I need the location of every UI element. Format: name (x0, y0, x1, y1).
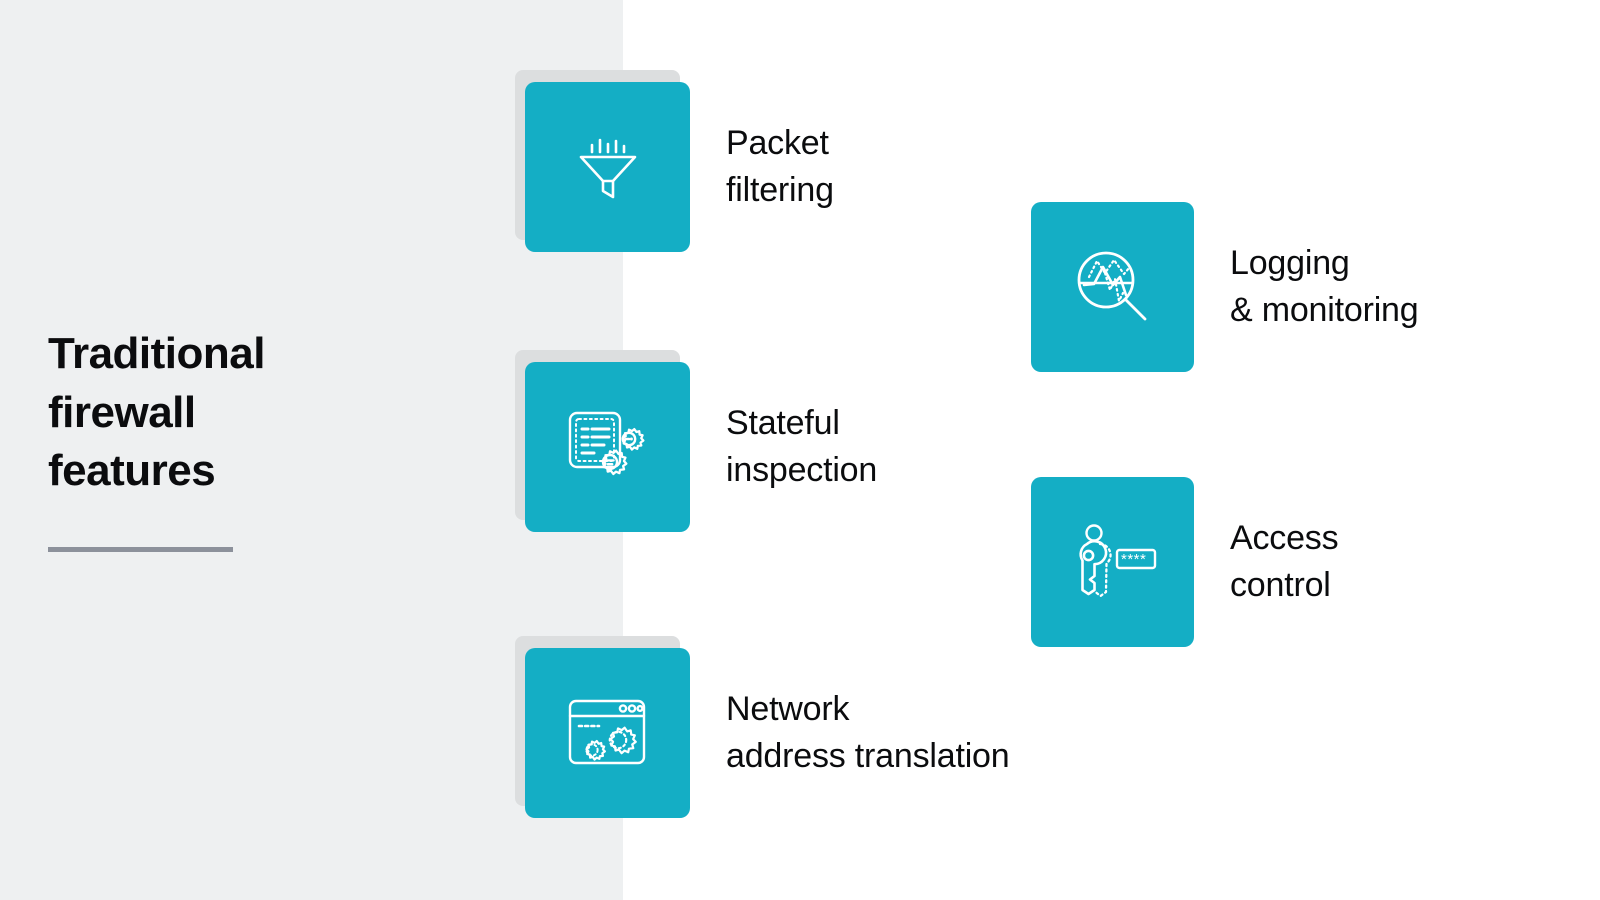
feature-label-logging-monitoring: Logging & monitoring (1230, 240, 1418, 333)
page-title: Traditional firewall features (48, 325, 478, 501)
feature-label-packet-filtering: Packet filtering (726, 120, 834, 213)
tile-wrap-packet-filtering (525, 82, 690, 252)
feature-network-address-translation[interactable]: Network address translation (525, 648, 1009, 818)
tile-logging-monitoring[interactable] (1031, 202, 1194, 372)
document-gears-icon (566, 407, 650, 487)
feature-label-network-address-translation: Network address translation (726, 686, 1009, 779)
browser-window-gears-icon (566, 695, 650, 771)
tile-packet-filtering[interactable] (525, 82, 690, 252)
tile-wrap-access-control: **** (1031, 477, 1194, 647)
svg-text:****: **** (1121, 551, 1146, 568)
tile-wrap-stateful-inspection (525, 362, 690, 532)
tile-stateful-inspection[interactable] (525, 362, 690, 532)
tile-wrap-logging-monitoring (1031, 202, 1194, 372)
tile-network-address-translation[interactable] (525, 648, 690, 818)
feature-label-stateful-inspection: Stateful inspection (726, 400, 877, 493)
title-divider-rule (48, 547, 233, 552)
keys-password-icon: **** (1069, 522, 1157, 602)
feature-packet-filtering[interactable]: Packet filtering (525, 82, 834, 252)
feature-access-control[interactable]: **** Access control (1031, 477, 1338, 647)
feature-stateful-inspection[interactable]: Stateful inspection (525, 362, 877, 532)
feature-label-access-control: Access control (1230, 515, 1338, 608)
feature-logging-monitoring[interactable]: Logging & monitoring (1031, 202, 1418, 372)
tile-access-control[interactable]: **** (1031, 477, 1194, 647)
title-block: Traditional firewall features (48, 325, 478, 552)
magnifier-chart-icon (1072, 246, 1154, 328)
infographic-slide: Traditional firewall features (0, 0, 1600, 900)
funnel-filter-icon (572, 131, 644, 203)
tile-wrap-network-address-translation (525, 648, 690, 818)
